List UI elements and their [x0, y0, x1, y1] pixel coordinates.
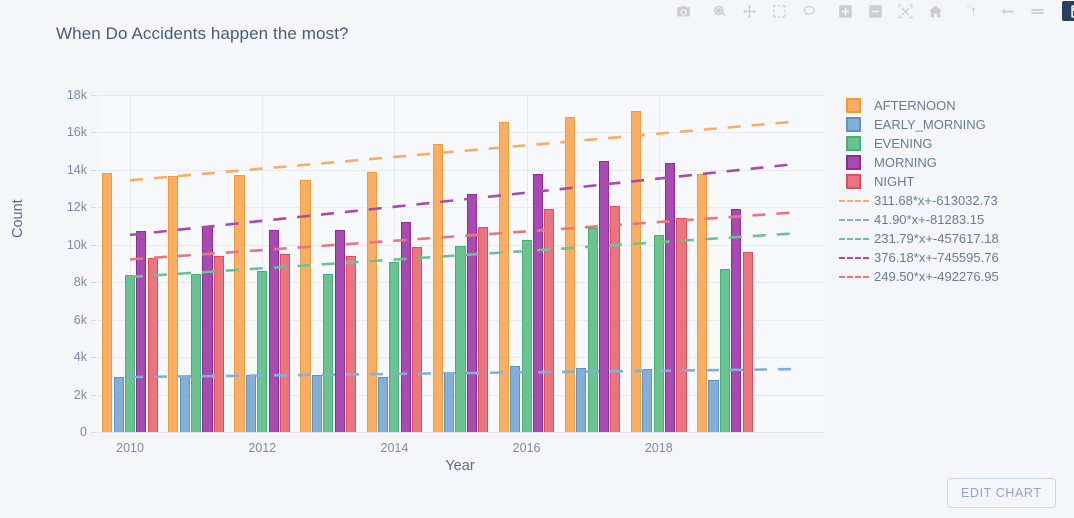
bar-early-morning-2016[interactable]: [510, 366, 520, 432]
plotly-modebar[interactable]: [668, 0, 1074, 22]
bar-night-2010[interactable]: [148, 258, 158, 432]
bar-afternoon-2018[interactable]: [631, 111, 641, 432]
bar-morning-2014[interactable]: [401, 222, 411, 432]
gridline-y: [97, 132, 824, 133]
bar-night-2013[interactable]: [346, 256, 356, 432]
x-axis-line: [97, 432, 824, 433]
legend-swatch-icon: [846, 117, 861, 132]
lasso-select-icon[interactable]: [794, 1, 824, 21]
bar-afternoon-2014[interactable]: [367, 172, 377, 432]
bar-early-morning-2017[interactable]: [576, 368, 586, 432]
legend-item-label: AFTERNOON: [874, 98, 956, 113]
modebar-group-2: [830, 1, 950, 21]
bar-evening-2016[interactable]: [522, 240, 532, 432]
bar-evening-2017[interactable]: [588, 228, 598, 432]
x-axis-tick-label: 2018: [645, 441, 673, 455]
y-axis-tick-label: 2k: [47, 389, 87, 402]
bar-morning-2010[interactable]: [136, 231, 146, 432]
edit-chart-studio-icon[interactable]: [1062, 1, 1074, 21]
legend-item-trendline-morning[interactable]: 376.18*x+-745595.76: [846, 248, 1066, 267]
modebar-group-4: [992, 1, 1052, 21]
legend-item-label: 311.68*x+-613032.73: [874, 193, 998, 208]
modebar-group-5: [1062, 1, 1074, 21]
y-axis-tick-label: 14k: [47, 164, 87, 177]
legend-item-label: 231.79*x+-457617.18: [874, 231, 999, 246]
legend-item-afternoon[interactable]: AFTERNOON: [846, 96, 1066, 115]
trendline-afternoon: [130, 122, 791, 180]
y-axis-tick-mark: [91, 282, 96, 283]
bar-afternoon-2013[interactable]: [300, 180, 310, 432]
y-axis-tick-mark: [91, 395, 96, 396]
legend-dashed-line-icon: [846, 231, 861, 246]
download-plot-as-png-icon[interactable]: [668, 1, 698, 21]
bar-morning-2016[interactable]: [533, 174, 543, 432]
y-axis-tick-mark: [91, 95, 96, 96]
legend-item-label: EARLY_MORNING: [874, 117, 986, 132]
trendline-morning: [130, 164, 791, 234]
plot-area[interactable]: [97, 95, 824, 432]
bar-night-2011[interactable]: [214, 256, 224, 432]
box-select-icon[interactable]: [764, 1, 794, 21]
y-axis-tick-label: 4k: [47, 351, 87, 364]
legend-dashed-line-icon: [846, 212, 861, 227]
bar-night-2015[interactable]: [478, 227, 488, 432]
modebar-group-0: [668, 1, 698, 21]
y-axis-tick-mark: [91, 357, 96, 358]
bar-afternoon-2016[interactable]: [499, 122, 509, 432]
bar-early-morning-2019[interactable]: [708, 380, 718, 432]
x-axis-tick-label: 2014: [381, 441, 409, 455]
legend-swatch-icon: [846, 136, 861, 151]
edit-chart-button[interactable]: EDIT CHART: [947, 478, 1056, 508]
reset-axes-home-icon[interactable]: [920, 1, 950, 21]
legend-item-label: 249.50*x+-492276.95: [874, 269, 999, 284]
bar-evening-2012[interactable]: [257, 271, 267, 432]
chart-legend[interactable]: AFTERNOONEARLY_MORNINGEVENINGMORNINGNIGH…: [846, 96, 1066, 286]
y-axis-tick-mark: [91, 245, 96, 246]
chart-title: When Do Accidents happen the most?: [56, 24, 349, 44]
gridline-y: [97, 207, 824, 208]
bar-morning-2012[interactable]: [269, 230, 279, 432]
modebar-group-3: [956, 1, 986, 21]
bar-night-2014[interactable]: [412, 247, 422, 432]
hover-closest-data-icon[interactable]: [1022, 1, 1052, 21]
bar-evening-2015[interactable]: [455, 246, 465, 432]
y-axis-tick-label: 0: [47, 426, 87, 439]
legend-item-trendline-afternoon[interactable]: 311.68*x+-613032.73: [846, 191, 1066, 210]
zoom-in-icon[interactable]: [830, 1, 860, 21]
x-axis-tick-label: 2010: [116, 441, 144, 455]
y-axis-tick-label: 6k: [47, 314, 87, 327]
bar-night-2012[interactable]: [280, 254, 290, 432]
legend-item-night[interactable]: NIGHT: [846, 172, 1066, 191]
bar-afternoon-2019[interactable]: [697, 174, 707, 432]
legend-dashed-line-icon: [846, 193, 861, 208]
bar-early-morning-2013[interactable]: [312, 375, 322, 432]
bar-afternoon-2012[interactable]: [234, 175, 244, 432]
x-axis-tick-label: 2016: [513, 441, 541, 455]
bar-morning-2019[interactable]: [731, 209, 741, 432]
legend-item-trendline-early-morning[interactable]: 41.90*x+-81283.15: [846, 210, 1066, 229]
gridline-y: [97, 170, 824, 171]
legend-item-evening[interactable]: EVENING: [846, 134, 1066, 153]
x-axis-title: Year: [445, 458, 474, 474]
autoscale-icon[interactable]: [890, 1, 920, 21]
bar-afternoon-2017[interactable]: [565, 117, 575, 432]
bar-early-morning-2015[interactable]: [444, 372, 454, 432]
hover-compare-data-icon[interactable]: [992, 1, 1022, 21]
y-axis-tick-label: 10k: [47, 239, 87, 252]
y-axis-tick-mark: [91, 432, 96, 433]
toggle-spike-lines-icon[interactable]: [956, 1, 986, 21]
x-axis-tick-label: 2012: [248, 441, 276, 455]
bar-evening-2011[interactable]: [191, 274, 201, 432]
bar-night-2017[interactable]: [610, 206, 620, 432]
legend-swatch-icon: [846, 155, 861, 170]
bar-early-morning-2014[interactable]: [378, 377, 388, 432]
legend-swatch-icon: [846, 174, 861, 189]
y-axis-tick-label: 8k: [47, 276, 87, 289]
legend-item-label: EVENING: [874, 136, 933, 151]
legend-item-label: NIGHT: [874, 174, 914, 189]
bar-afternoon-2015[interactable]: [433, 144, 443, 432]
legend-dashed-line-icon: [846, 269, 861, 284]
y-axis-tick-mark: [91, 207, 96, 208]
bar-evening-2019[interactable]: [720, 269, 730, 432]
bar-evening-2013[interactable]: [323, 274, 333, 432]
legend-swatch-icon: [846, 98, 861, 113]
bar-morning-2013[interactable]: [335, 230, 345, 432]
bar-afternoon-2010[interactable]: [102, 173, 112, 432]
bar-early-morning-2011[interactable]: [180, 376, 190, 432]
y-axis-tick-mark: [91, 320, 96, 321]
legend-item-morning[interactable]: MORNING: [846, 153, 1066, 172]
bar-evening-2018[interactable]: [654, 235, 664, 432]
legend-item-label: 376.18*x+-745595.76: [874, 250, 999, 265]
chart-page: When Do Accidents happen the most? Count…: [0, 0, 1074, 518]
gridline-y: [97, 95, 824, 96]
bar-night-2018[interactable]: [676, 218, 686, 432]
legend-item-label: 41.90*x+-81283.15: [874, 212, 984, 227]
bar-morning-2015[interactable]: [467, 194, 477, 432]
zoom-icon[interactable]: [704, 1, 734, 21]
zoom-out-icon[interactable]: [860, 1, 890, 21]
bar-morning-2018[interactable]: [665, 163, 675, 432]
bar-afternoon-2011[interactable]: [168, 176, 178, 432]
bar-morning-2017[interactable]: [599, 161, 609, 432]
y-axis-tick-label: 18k: [47, 89, 87, 102]
bar-evening-2010[interactable]: [125, 275, 135, 432]
bar-early-morning-2010[interactable]: [114, 377, 124, 432]
bar-early-morning-2012[interactable]: [246, 375, 256, 432]
legend-item-trendline-evening[interactable]: 231.79*x+-457617.18: [846, 229, 1066, 248]
bar-night-2016[interactable]: [544, 209, 554, 432]
pan-icon[interactable]: [734, 1, 764, 21]
bar-evening-2014[interactable]: [389, 262, 399, 432]
modebar-group-1: [704, 1, 824, 21]
legend-item-trendline-night[interactable]: 249.50*x+-492276.95: [846, 267, 1066, 286]
bar-night-2019[interactable]: [743, 252, 753, 432]
legend-dashed-line-icon: [846, 250, 861, 265]
legend-item-early-morning[interactable]: EARLY_MORNING: [846, 115, 1066, 134]
bar-morning-2011[interactable]: [202, 227, 212, 432]
y-axis-tick-mark: [91, 132, 96, 133]
y-axis-tick-label: 12k: [47, 201, 87, 214]
y-axis-tick-mark: [91, 170, 96, 171]
y-axis-title: Count: [10, 199, 26, 238]
bar-early-morning-2018[interactable]: [642, 369, 652, 432]
y-axis-tick-label: 16k: [47, 126, 87, 139]
legend-item-label: MORNING: [874, 155, 937, 170]
